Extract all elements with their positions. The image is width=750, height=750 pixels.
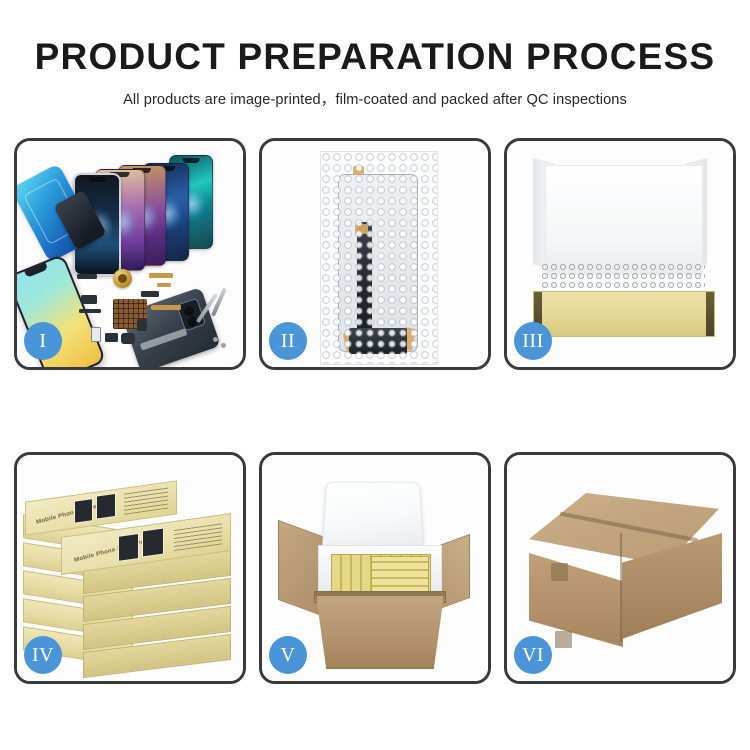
tape-piece-icon: [355, 224, 368, 234]
spare-part-button-icon: [137, 319, 147, 331]
process-step-panel-6: VI: [504, 452, 736, 684]
box-spec-lines: [174, 520, 222, 551]
box-window-icon: [96, 493, 116, 520]
styrofoam-lid-icon: [322, 482, 425, 551]
step-badge-3: III: [514, 322, 552, 360]
spare-part-speaker-icon: [105, 333, 118, 342]
spare-part-chip-icon: [91, 327, 101, 342]
carton-body-icon: [316, 595, 444, 669]
connector-block-icon: [349, 328, 407, 354]
process-step-panel-2: II: [259, 138, 491, 370]
kraft-box-front-panel-icon: [533, 291, 715, 337]
process-step-panel-5: V: [259, 452, 491, 684]
box-window-icon: [74, 498, 93, 524]
flex-cable-small-icon: [157, 283, 171, 287]
bubble-wrap-bag-icon: [320, 151, 438, 365]
spare-part-bracket-icon: [81, 295, 97, 304]
step-badge-2: II: [269, 322, 307, 360]
box-spec-lines: [124, 487, 168, 515]
process-step-panel-3: III: [504, 138, 736, 370]
step-badge-4: IV: [24, 636, 62, 674]
display-flex-cable-icon: [357, 222, 372, 342]
page-subtitle: All products are image-printed，film-coat…: [0, 88, 750, 109]
carton-corner-edge-icon: [620, 533, 622, 641]
page-title: PRODUCT PREPARATION PROCESS: [0, 38, 750, 77]
flex-cable-top-icon: [149, 273, 173, 278]
process-step-grid: I II III: [14, 138, 736, 684]
tape-piece-icon: [353, 166, 364, 175]
box-window-icon: [118, 533, 139, 562]
process-step-panel-1: I: [14, 138, 246, 370]
packed-yellow-boxes-icon: [371, 556, 429, 594]
white-foam-sheet-icon: [545, 165, 703, 275]
spare-part-strip-icon: [79, 309, 101, 313]
carton-flap-tab-icon: [555, 631, 572, 648]
process-step-panel-4: Mobile Phone Spare Parts Mobile Phone Sp…: [14, 452, 246, 684]
step-badge-1: I: [24, 322, 62, 360]
packed-product-outline-icon: [338, 174, 418, 352]
spare-part-connector-icon: [141, 291, 159, 297]
copper-coil-part-icon: [113, 269, 132, 288]
box-window-icon: [142, 527, 164, 557]
flex-cable-long-icon: [151, 305, 181, 310]
header: PRODUCT PREPARATION PROCESS All products…: [0, 0, 750, 109]
screw-icon: [221, 343, 226, 348]
step-badge-5: V: [269, 636, 307, 674]
spare-part-module-icon: [121, 333, 135, 344]
carton-flap-tab-icon: [551, 563, 568, 581]
step-badge-6: VI: [514, 636, 552, 674]
screw-icon: [213, 337, 218, 342]
spare-part-bar-icon: [77, 274, 97, 279]
bubble-padding-inside-box-icon: [541, 263, 705, 293]
